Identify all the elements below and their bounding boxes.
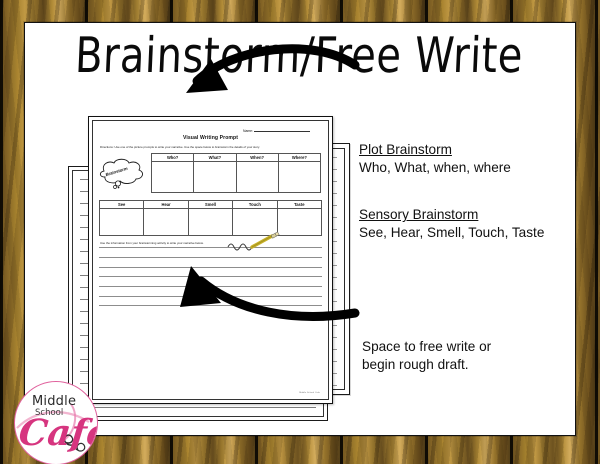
col-touch: Touch: [233, 201, 277, 209]
table-row[interactable]: [100, 209, 322, 236]
cell-taste[interactable]: [277, 209, 321, 236]
table-header-row: See Hear Smell Touch Taste: [100, 201, 322, 209]
col-taste: Taste: [277, 201, 321, 209]
brainstorm-thought-bubble-icon: Brainstorm: [96, 158, 148, 188]
col-see: See: [100, 201, 144, 209]
table-row[interactable]: [152, 162, 321, 193]
cell-hear[interactable]: [144, 209, 188, 236]
cell-where[interactable]: [278, 162, 320, 193]
plot-brainstorm-table: Who? What? When? Where?: [151, 153, 321, 193]
white-card: Brainstorm/Free Write: [24, 22, 576, 436]
cell-touch[interactable]: [233, 209, 277, 236]
narrative-instruction: Use the information from your brainstorm…: [100, 241, 322, 245]
annotation-freewrite-line2: begin rough draft.: [362, 356, 547, 374]
logo-line-middle: Middle: [32, 394, 76, 409]
cell-when[interactable]: [236, 162, 278, 193]
col-where: Where?: [278, 154, 320, 162]
name-blank[interactable]: [254, 127, 310, 132]
worksheet-frame: Name: Visual Writing Prompt Directions: …: [92, 120, 329, 400]
name-label: Name:: [243, 129, 254, 133]
annotation-plot: Plot Brainstorm Who, What, when, where: [359, 141, 574, 177]
sensory-brainstorm-table: See Hear Smell Touch Taste: [99, 200, 322, 236]
worksheet-directions: Directions: Use one of the picture promp…: [100, 145, 314, 149]
free-write-lines: [99, 247, 322, 306]
worksheet-footer-credit: Middle School Cafe: [299, 392, 320, 394]
annotation-freewrite-line1: Space to free write or: [362, 338, 547, 356]
cell-smell[interactable]: [188, 209, 232, 236]
annotation-sensory-heading: Sensory Brainstorm: [359, 206, 549, 224]
annotation-plot-heading: Plot Brainstorm: [359, 141, 574, 159]
col-smell: Smell: [188, 201, 232, 209]
page-title: Brainstorm/Free Write: [23, 28, 575, 84]
col-what: What?: [194, 154, 236, 162]
col-hear: Hear: [144, 201, 188, 209]
annotation-freewrite: Space to free write or begin rough draft…: [362, 338, 547, 374]
annotation-plot-body: Who, What, when, where: [359, 159, 574, 177]
worksheet-heading: Visual Writing Prompt: [99, 135, 322, 141]
table-header-row: Who? What? When? Where?: [152, 154, 321, 162]
annotation-sensory-body: See, Hear, Smell, Touch, Taste: [359, 224, 549, 242]
visual-writing-prompt-worksheet: Name: Visual Writing Prompt Directions: …: [88, 116, 333, 404]
cell-what[interactable]: [194, 162, 236, 193]
col-who: Who?: [152, 154, 194, 162]
pencil-icon: [228, 233, 286, 257]
cell-see[interactable]: [100, 209, 144, 236]
middle-school-cafe-logo: Middle School Cafe: [14, 381, 98, 464]
poster-stage: Brainstorm/Free Write: [0, 0, 600, 464]
name-field[interactable]: Name:: [243, 127, 321, 133]
cell-who[interactable]: [152, 162, 194, 193]
logo-line-cafe: Cafe: [17, 412, 98, 454]
col-when: When?: [236, 154, 278, 162]
annotation-sensory: Sensory Brainstorm See, Hear, Smell, Tou…: [359, 206, 549, 242]
